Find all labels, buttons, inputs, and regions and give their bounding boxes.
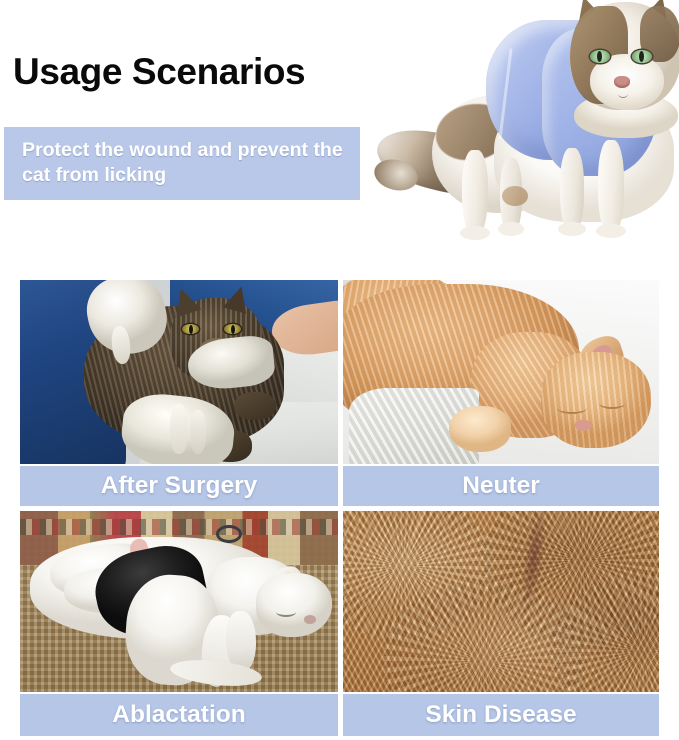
page-title: Usage Scenarios	[13, 53, 305, 90]
scenario-label-bar-ablactation: Ablactation	[20, 694, 338, 736]
ginger-cat-closed-eye-right	[599, 398, 625, 409]
cat-hock-marking	[502, 186, 528, 206]
hero-caption-bar: Protect the wound and prevent the cat fr…	[4, 127, 360, 200]
latex-glove-lower-finger-1	[170, 404, 188, 454]
tabby-cat-paw-upper	[234, 392, 276, 420]
scenario-card-skin-disease: Skin Disease	[343, 511, 659, 736]
hero-caption-text: Protect the wound and prevent the cat fr…	[22, 138, 352, 188]
cat-left-pupil	[597, 51, 602, 62]
fur-strands-secondary	[343, 511, 659, 692]
latex-glove-lower-finger-2	[190, 410, 206, 454]
scenario-card-ablactation: Ablactation	[20, 511, 338, 736]
cat-nose	[614, 76, 630, 88]
cat-front-left-leg	[598, 140, 624, 236]
scenario-photo-ablactation	[20, 511, 338, 692]
tabby-cat-left-pupil	[189, 325, 193, 334]
scenario-label-text: After Surgery	[101, 472, 258, 500]
ginger-cat-front-paw	[449, 406, 511, 452]
cat-mouth	[618, 90, 628, 98]
scenario-label-text: Ablactation	[112, 701, 245, 729]
ginger-cat-head	[541, 352, 651, 448]
cat-paw-front-left	[596, 224, 626, 238]
cat-right-pupil	[639, 51, 644, 62]
mother-cat-eye	[276, 607, 296, 617]
tabby-cat-right-pupil	[231, 325, 235, 334]
scenario-label-bar-skin-disease: Skin Disease	[343, 694, 659, 736]
mother-cat-head	[256, 573, 332, 637]
ginger-cat-nose	[575, 420, 591, 431]
scenario-card-neuter: Neuter	[343, 280, 659, 506]
product-infographic: Usage Scenarios Protect the wound and pr…	[0, 0, 679, 740]
scenario-label-bar-neuter: Neuter	[343, 466, 659, 506]
scenario-photo-skin-disease	[343, 511, 659, 692]
scenario-card-after-surgery: After Surgery	[20, 280, 338, 506]
patterned-rug-band	[20, 519, 338, 535]
hair-tie-ring	[216, 525, 242, 543]
scenario-photo-after-surgery	[20, 280, 338, 464]
hero-cat-photo	[374, 0, 679, 245]
cat-paw-back-left	[460, 226, 490, 240]
mother-cat-nose	[304, 615, 316, 624]
cat-paw-back-right	[498, 222, 524, 236]
cat-paw-front-right	[558, 222, 586, 236]
ginger-cat-closed-eye-left	[557, 402, 587, 414]
scenario-label-bar-after-surgery: After Surgery	[20, 466, 338, 506]
scenario-photo-neuter	[343, 280, 659, 464]
scenario-label-text: Neuter	[462, 472, 540, 500]
hero-section: Usage Scenarios Protect the wound and pr…	[0, 0, 679, 262]
scenario-label-text: Skin Disease	[425, 701, 576, 729]
cat-back-left-leg	[462, 150, 488, 238]
